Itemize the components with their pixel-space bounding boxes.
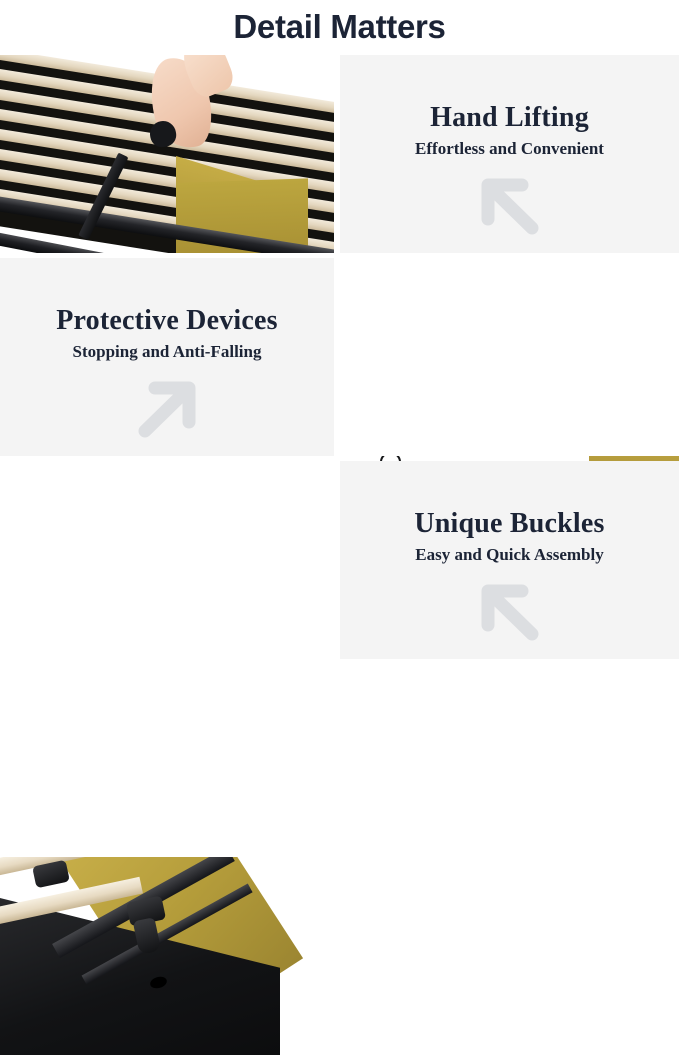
arrow-up-left-icon bbox=[475, 171, 545, 239]
feature-grid: Hand Lifting Effortless and Convenient P… bbox=[0, 55, 679, 659]
panel-unique-buckles-text: Unique Buckles Easy and Quick Assembly bbox=[340, 461, 679, 659]
infographic-page: Detail Matters Hand Lifting bbox=[0, 0, 679, 659]
panel-unique-buckles-photo bbox=[0, 857, 334, 1055]
feature-subline: Easy and Quick Assembly bbox=[415, 546, 603, 565]
feature-subline: Effortless and Convenient bbox=[415, 140, 604, 159]
feature-headline: Protective Devices bbox=[56, 306, 278, 335]
panel-hand-lifting-photo bbox=[0, 55, 334, 253]
panel-hand-lifting-text: Hand Lifting Effortless and Convenient bbox=[340, 55, 679, 253]
feature-headline: Hand Lifting bbox=[430, 103, 589, 132]
arrow-up-left-icon bbox=[475, 577, 545, 645]
panel-protective-devices-text: Protective Devices Stopping and Anti-Fal… bbox=[0, 258, 334, 456]
feature-subline: Stopping and Anti-Falling bbox=[73, 343, 262, 362]
page-title: Detail Matters bbox=[233, 10, 445, 43]
arrow-up-right-icon bbox=[132, 374, 202, 442]
feature-headline: Unique Buckles bbox=[414, 509, 604, 538]
page-title-bar: Detail Matters bbox=[0, 0, 679, 55]
